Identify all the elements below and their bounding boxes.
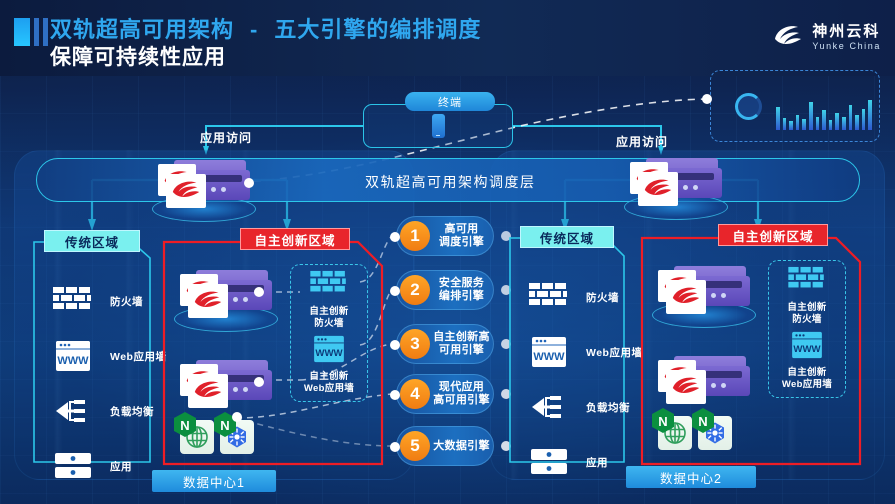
- bar: [816, 117, 820, 131]
- nginx-icon: N: [692, 408, 714, 433]
- engine-connector-node: [390, 390, 400, 400]
- list-item-label: 应用: [586, 455, 608, 470]
- dc1-scheduler-server-stack: [158, 160, 250, 212]
- bar: [809, 102, 813, 130]
- engine-number-badge: 4: [400, 379, 430, 409]
- dc1-inno-node-3: [232, 412, 242, 422]
- label: 自主创新防火墙: [768, 302, 846, 326]
- access-label-right: 应用访问: [616, 133, 668, 150]
- engine-number-badge: 3: [400, 329, 430, 359]
- laptop-icon: [456, 114, 490, 139]
- brand-logo: 神州云科 Yunke China: [771, 22, 881, 52]
- swirl-logo-icon: [771, 22, 805, 52]
- dc1-traditional-items: 防火墙 WWW Web应用墙: [50, 276, 170, 496]
- dc2-innovation-firewall[interactable]: 自主创新防火墙: [768, 266, 846, 326]
- dc2-traditional-zone-tab[interactable]: 传统区域: [520, 226, 614, 248]
- svg-text:WWW: WWW: [533, 351, 565, 363]
- engine-label: 大数据引擎: [430, 440, 493, 453]
- label: 自主创新防火墙: [290, 306, 368, 330]
- application-server-icon: [526, 445, 572, 479]
- engine-number-badge: 1: [400, 221, 430, 251]
- page-title: 双轨超高可用架构-五大引擎的编排调度: [50, 12, 481, 44]
- list-item[interactable]: 负载均衡: [50, 386, 170, 436]
- dc1-inno-node-1: [254, 287, 264, 297]
- label: 自主创新Web应用墙: [768, 367, 846, 391]
- bar: [822, 110, 826, 130]
- svg-text:WWW: WWW: [57, 355, 89, 367]
- dc1-innovation-zone-tab[interactable]: 自主创新区域: [240, 228, 350, 250]
- nginx-icon: N: [652, 408, 674, 433]
- access-label-left: 应用访问: [200, 129, 252, 146]
- vendor-logo-tile-front: [188, 284, 228, 318]
- firewall-brick-icon: [309, 270, 349, 298]
- web-browser-www-icon: WWW: [313, 335, 345, 363]
- list-item-label: 应用: [110, 459, 132, 474]
- scheduling-layer-label: 双轨超高可用架构调度层: [365, 172, 536, 192]
- label: 自主创新Web应用墙: [290, 371, 368, 395]
- list-item-label: 防火墙: [110, 294, 143, 309]
- dc2-scheduler-server-stack: [630, 158, 722, 210]
- list-item-label: 负载均衡: [586, 400, 630, 415]
- bar: [776, 107, 780, 130]
- brand-name-en: Yunke China: [812, 42, 881, 51]
- dc2-innovation-zone: 自主创新区域 自主创新防火墙: [640, 228, 864, 466]
- vendor-logo-tile-front: [666, 370, 706, 404]
- dc2-innovation-server-stack-1: [658, 266, 750, 318]
- engine-item-5[interactable]: 5大数据引擎: [396, 426, 494, 466]
- list-item-label: 负载均衡: [110, 404, 154, 419]
- bar: [796, 115, 800, 130]
- engine-connector-node: [390, 286, 400, 296]
- dc1-innovation-waf[interactable]: WWW 自主创新Web应用墙: [290, 335, 368, 395]
- engine-number-badge: 2: [400, 275, 430, 305]
- firewall-brick-icon: [787, 266, 827, 294]
- page-title-main: 双轨超高可用架构: [50, 17, 234, 42]
- brand-name-cn: 神州云科: [812, 24, 881, 39]
- vendor-logo-tile-front: [638, 172, 678, 206]
- dc2-traditional-items: 防火墙 WWW Web应用墙: [526, 272, 644, 492]
- load-balancer-icon: [526, 390, 572, 424]
- svg-text:N: N: [180, 418, 189, 433]
- list-item[interactable]: WWW Web应用墙: [50, 331, 170, 381]
- header-bar: 双轨超高可用架构-五大引擎的编排调度 保障可持续性应用 神州云科 Yunke C…: [0, 0, 895, 76]
- laptop-icon: [387, 114, 421, 139]
- bar: [849, 105, 853, 130]
- list-item[interactable]: 防火墙: [50, 276, 170, 326]
- bar: [783, 118, 787, 130]
- brand-text: 神州云科 Yunke China: [812, 24, 881, 51]
- datacenter-1-name: 数据中心1: [152, 470, 276, 492]
- engine-connector-node: [390, 340, 400, 350]
- bar: [855, 115, 859, 130]
- engine-connector-node: [390, 232, 400, 242]
- page-subtitle: 保障可持续性应用: [50, 41, 226, 71]
- dc2-innovation-waf[interactable]: WWW 自主创新Web应用墙: [768, 331, 846, 391]
- list-item[interactable]: WWW Web应用墙: [526, 327, 644, 377]
- dc2-innovation-zone-tab[interactable]: 自主创新区域: [718, 224, 828, 246]
- web-browser-www-icon: WWW: [791, 331, 823, 359]
- engine-label: 高可用调度引擎: [430, 223, 493, 249]
- vendor-logo-tile-front: [666, 280, 706, 314]
- web-browser-www-icon: WWW: [526, 335, 572, 369]
- dashboard-connector-node: [702, 94, 712, 104]
- bar: [868, 100, 872, 130]
- load-balancer-icon: [50, 394, 96, 428]
- page-title-sub: 五大引擎的编排调度: [274, 17, 481, 42]
- dc1-traditional-zone: 传统区域 防火墙: [32, 232, 152, 464]
- smartphone-icon: [432, 114, 445, 138]
- engine-label: 安全服务编排引擎: [430, 277, 493, 303]
- engine-item-3[interactable]: 3自主创新高可用引擎: [396, 324, 494, 364]
- svg-text:N: N: [658, 414, 667, 429]
- svg-text:N: N: [698, 414, 707, 429]
- engine-item-1[interactable]: 1高可用调度引擎: [396, 216, 494, 256]
- page-title-dash: -: [234, 17, 274, 42]
- engine-number-badge: 5: [400, 431, 430, 461]
- accent-bars-icon: [14, 18, 48, 46]
- svg-text:WWW: WWW: [793, 344, 821, 355]
- engine-label: 自主创新高可用引擎: [430, 331, 493, 357]
- bar: [835, 113, 839, 130]
- firewall-brick-icon: [526, 280, 572, 314]
- engine-item-4[interactable]: 4现代应用高可用引擎: [396, 374, 494, 414]
- list-item-label: Web应用墙: [586, 345, 642, 360]
- list-item-label: 防火墙: [586, 290, 619, 305]
- terminal-label-pill: 终端: [405, 92, 495, 111]
- donut-chart-icon: [735, 93, 762, 120]
- list-item[interactable]: 防火墙: [526, 272, 644, 322]
- vendor-logo-tile-front: [166, 174, 206, 208]
- application-server-icon: [50, 449, 96, 483]
- list-item-label: Web应用墙: [110, 349, 166, 364]
- dc1-traditional-zone-tab[interactable]: 传统区域: [44, 230, 140, 252]
- firewall-brick-icon: [50, 284, 96, 318]
- engine-item-2[interactable]: 2安全服务编排引擎: [396, 270, 494, 310]
- bar-chart-icon: [776, 85, 872, 130]
- bar: [802, 119, 806, 130]
- vendor-logo-tile-front: [188, 374, 228, 408]
- bar: [862, 109, 866, 130]
- list-item[interactable]: 负载均衡: [526, 382, 644, 432]
- engine-connector-node: [390, 442, 400, 452]
- bar: [789, 121, 793, 130]
- engine-label: 现代应用高可用引擎: [430, 381, 493, 407]
- web-browser-www-icon: WWW: [50, 339, 96, 373]
- svg-text:WWW: WWW: [315, 348, 343, 359]
- dc2-traditional-zone: 传统区域 防火墙 WWW: [508, 228, 626, 464]
- dc2-innovation-server-stack-2: [658, 356, 750, 408]
- dc1-innovation-firewall[interactable]: 自主创新防火墙: [290, 270, 368, 330]
- svg-text:N: N: [220, 418, 229, 433]
- dc1-scheduler-node: [244, 178, 254, 188]
- nginx-icon: N: [174, 412, 196, 437]
- bar: [829, 120, 833, 130]
- bar: [842, 117, 846, 131]
- dc1-innovation-zone: 自主创新区域 自主创新防火墙: [162, 232, 384, 466]
- dc1-inno-node-2: [254, 377, 264, 387]
- slide-canvas: 双轨超高可用架构-五大引擎的编排调度 保障可持续性应用 神州云科 Yunke C…: [0, 0, 895, 504]
- datacenter-2-name: 数据中心2: [626, 466, 756, 488]
